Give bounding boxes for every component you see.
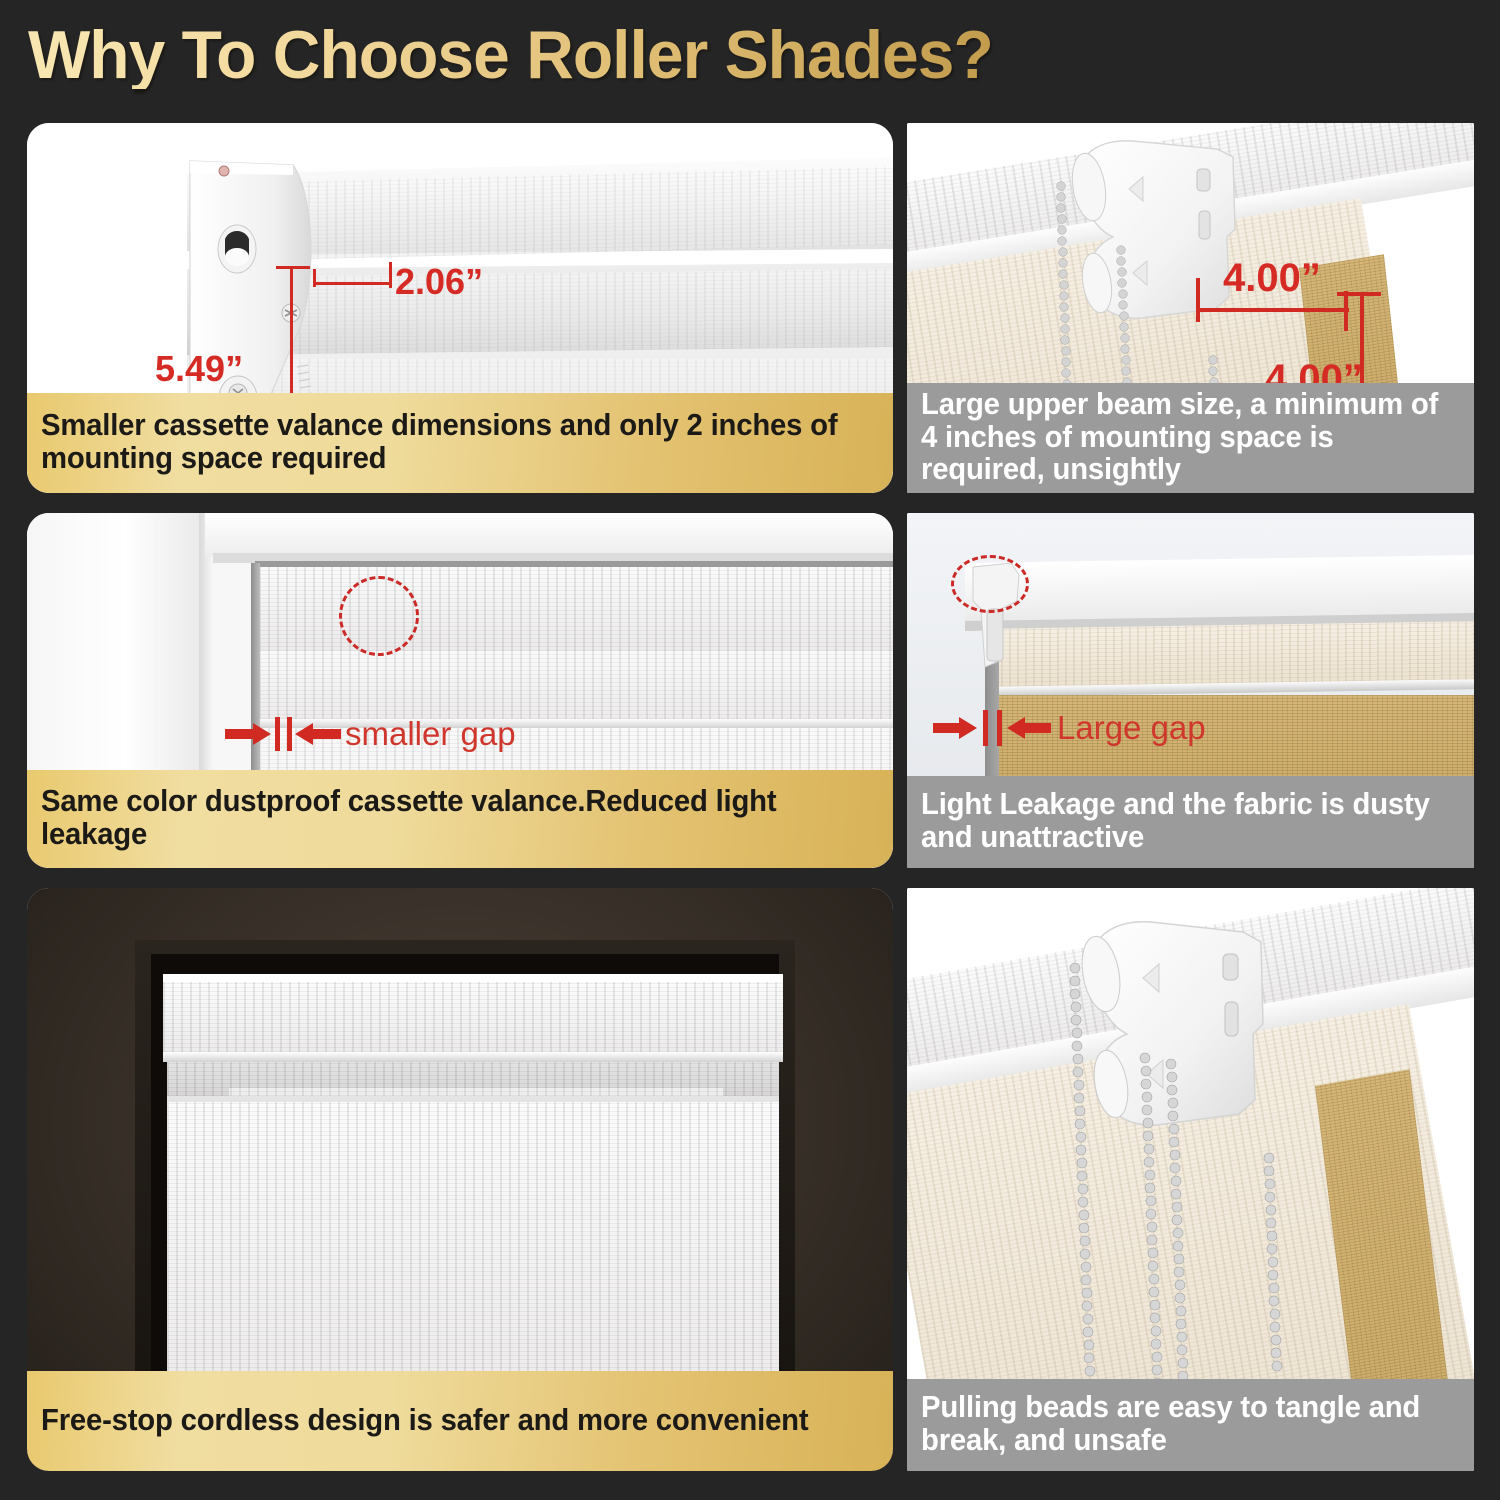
large-gap-label: Large gap: [1057, 709, 1206, 747]
width-dim-tick-right: [389, 262, 392, 288]
panel-6-pulling-beads: Pulling beads are easy to tangle and bre…: [907, 888, 1474, 1471]
panel-3-caption: Same color dustproof cassette valance.Re…: [27, 770, 893, 868]
page-title: Why To Choose Roller Shades?: [28, 21, 993, 89]
width-dimension-label: 2.06”: [395, 261, 483, 303]
panel-3-smaller-gap: smaller gap Same color dustproof cassett…: [27, 513, 893, 868]
panel-1-caption: Smaller cassette valance dimensions and …: [27, 393, 893, 493]
beam-width-label: 4.00”: [1223, 256, 1321, 301]
beam-width-tick-right: [1344, 291, 1348, 331]
width-dim-tick-left: [313, 269, 316, 287]
panel-6-caption: Pulling beads are easy to tangle and bre…: [907, 1379, 1474, 1471]
height-dimension-label: 5.49”: [155, 348, 243, 390]
smaller-gap-label: smaller gap: [345, 715, 516, 753]
panel-4-caption-text: Light Leakage and the fabric is dusty an…: [921, 788, 1438, 853]
beam-width-tick-left: [1196, 278, 1200, 322]
panel-2-caption-text: Large upper beam size, a minimum of 4 in…: [921, 388, 1438, 486]
panel-3-caption-text: Same color dustproof cassette valance.Re…: [41, 785, 845, 850]
panel-2-large-beam: 4.00” 4.00” Large upper beam size, a min…: [907, 123, 1474, 493]
panel-5-caption-text: Free-stop cordless design is safer and m…: [41, 1404, 808, 1437]
beam-height-tick-top: [1337, 292, 1381, 296]
panel-4-large-gap: Large gap Light Leakage and the fabric i…: [907, 513, 1474, 868]
panel-4-caption: Light Leakage and the fabric is dusty an…: [907, 776, 1474, 868]
panel-5-cordless-window: Free-stop cordless design is safer and m…: [27, 888, 893, 1471]
height-dim-tick-top: [276, 266, 310, 269]
gap-highlight-circle: [339, 576, 419, 656]
panel-1-cassette-dimensions: 2.06” 5.49” Smaller cassette valance dim…: [27, 123, 893, 493]
panel-2-caption: Large upper beam size, a minimum of 4 in…: [907, 383, 1474, 493]
panel-6-caption-text: Pulling beads are easy to tangle and bre…: [921, 1391, 1438, 1456]
beam-width-line: [1198, 308, 1349, 312]
panel-5-caption: Free-stop cordless design is safer and m…: [27, 1371, 893, 1471]
infographic-root: Why To Choose Roller Shades? Why To Choo…: [0, 0, 1500, 1500]
width-dimension-line: [314, 282, 392, 285]
panel-1-caption-text: Smaller cassette valance dimensions and …: [41, 409, 845, 474]
gap-highlight-circle: [951, 555, 1029, 613]
